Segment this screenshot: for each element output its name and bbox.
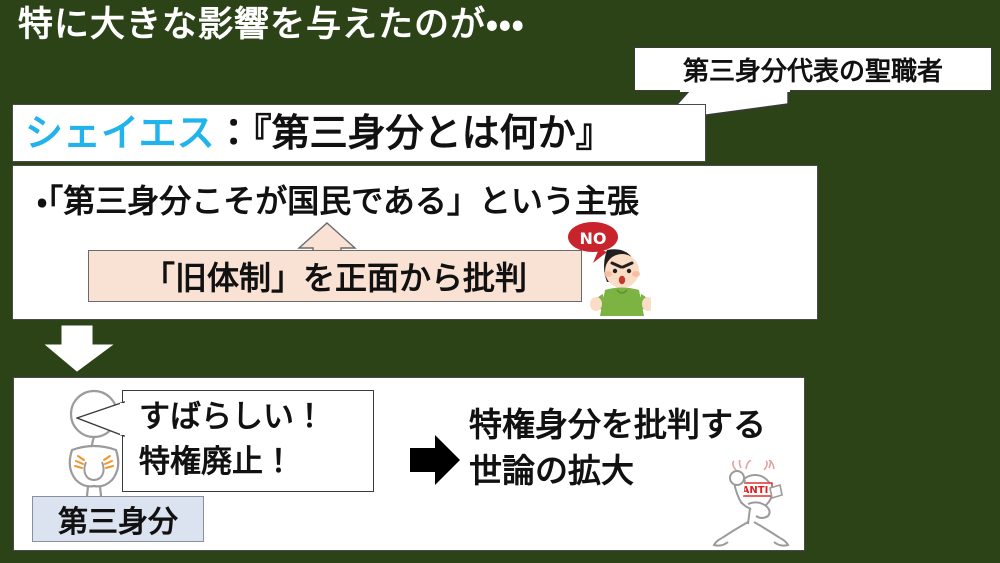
slide-canvas: 特に大きな影響を与えたのが・・・ 第三身分代表の聖職者 シェイエス：『第三身分と… bbox=[0, 0, 1000, 563]
title-line: シェイエス：『第三身分とは何か』 bbox=[13, 114, 614, 152]
criticism-label: 「旧体制」を正面から批判 bbox=[143, 253, 527, 299]
bullet-text: 「第三身分こそが国民である」という主張 bbox=[47, 182, 639, 220]
badge-label: 第三身分 bbox=[58, 497, 178, 541]
svg-text:NO: NO bbox=[580, 229, 607, 248]
callout-box: 第三身分代表の聖職者 bbox=[634, 47, 992, 91]
bullet-marker: ・ bbox=[37, 185, 47, 220]
no-character-illustration: NO bbox=[565, 222, 651, 322]
author-name: シェイエス bbox=[25, 111, 215, 155]
svg-text:ANTI: ANTI bbox=[742, 485, 769, 496]
title-box: シェイエス：『第三身分とは何か』 bbox=[12, 104, 706, 162]
anti-protester-icon: ANTI bbox=[712, 460, 794, 548]
callout-label: 第三身分代表の聖職者 bbox=[683, 51, 943, 88]
down-arrow-icon bbox=[44, 325, 114, 373]
title-separator: ： bbox=[215, 111, 253, 155]
outcome-panel: すばらしい！ 特権廃止！ 第三身分 特権身分を批判する 世論の拡大 bbox=[13, 377, 805, 551]
angry-boy-icon bbox=[590, 249, 651, 316]
speech-bubble: すばらしい！ 特権廃止！ bbox=[122, 390, 374, 492]
criticism-box: 「旧体制」を正面から批判 bbox=[88, 250, 582, 302]
speech-line-1: すばらしい！ bbox=[139, 395, 325, 440]
right-arrow-icon bbox=[409, 432, 461, 488]
speech-text: すばらしい！ 特権廃止！ bbox=[139, 395, 325, 485]
page-title: 特に大きな影響を与えたのが・・・ bbox=[18, 6, 525, 45]
bullet-line: ・「第三身分こそが国民である」という主張 bbox=[37, 176, 639, 222]
work-title: 『第三身分とは何か』 bbox=[253, 111, 614, 155]
speech-line-2: 特権廃止！ bbox=[139, 440, 325, 485]
result-line-1: 特権身分を批判する bbox=[469, 402, 766, 448]
speech-tail-icon bbox=[76, 400, 126, 440]
third-estate-badge: 第三身分 bbox=[32, 496, 204, 542]
